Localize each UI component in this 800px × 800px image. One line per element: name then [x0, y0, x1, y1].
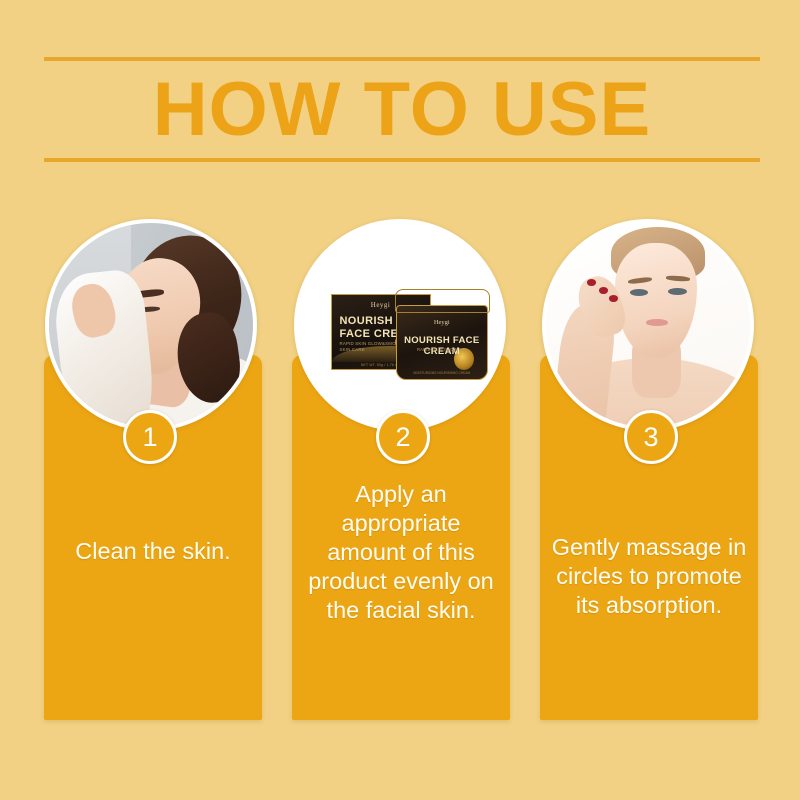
step-2-image: Heygi NOURISH FACE CREAM RAPID SKIN GLOW… — [294, 219, 506, 431]
step-1-text: Clean the skin. — [52, 537, 254, 566]
step-number-badge-2: 2 — [376, 410, 430, 464]
step-3-text: Gently massage in circles to promote its… — [548, 533, 750, 620]
product-photo: Heygi NOURISH FACE CREAM RAPID SKIN GLOW… — [298, 223, 502, 427]
product-jar: Heygi NOURISH FACE CREAM RAPID SKIN GLOW… — [396, 305, 488, 380]
step-3-image — [542, 219, 754, 431]
step-1-image — [45, 219, 257, 431]
woman-cleansing-face-illustration — [49, 223, 253, 427]
product-jar-subtitle: RAPID SKIN GLOW 50g — [397, 347, 487, 352]
product-jar-title: NOURISH FACE CREAM — [397, 335, 487, 357]
step-2-text: Apply an appropriate amount of this prod… — [300, 480, 502, 625]
how-to-use-infographic: HOW TO USE Clean the skin. 1 Apply an ap… — [0, 0, 800, 800]
product-jar-footer: MOISTURIZING NOURISHING CREAM — [397, 371, 487, 375]
header-rule-bottom — [44, 158, 760, 162]
jar-lid — [395, 289, 490, 313]
page-title: HOW TO USE — [44, 61, 760, 158]
step-number-badge-3: 3 — [624, 410, 678, 464]
product-brand-jar: Heygi — [397, 319, 487, 326]
header: HOW TO USE — [44, 57, 760, 162]
step-number-badge-1: 1 — [123, 410, 177, 464]
woman-touching-cheek-illustration — [546, 223, 750, 427]
